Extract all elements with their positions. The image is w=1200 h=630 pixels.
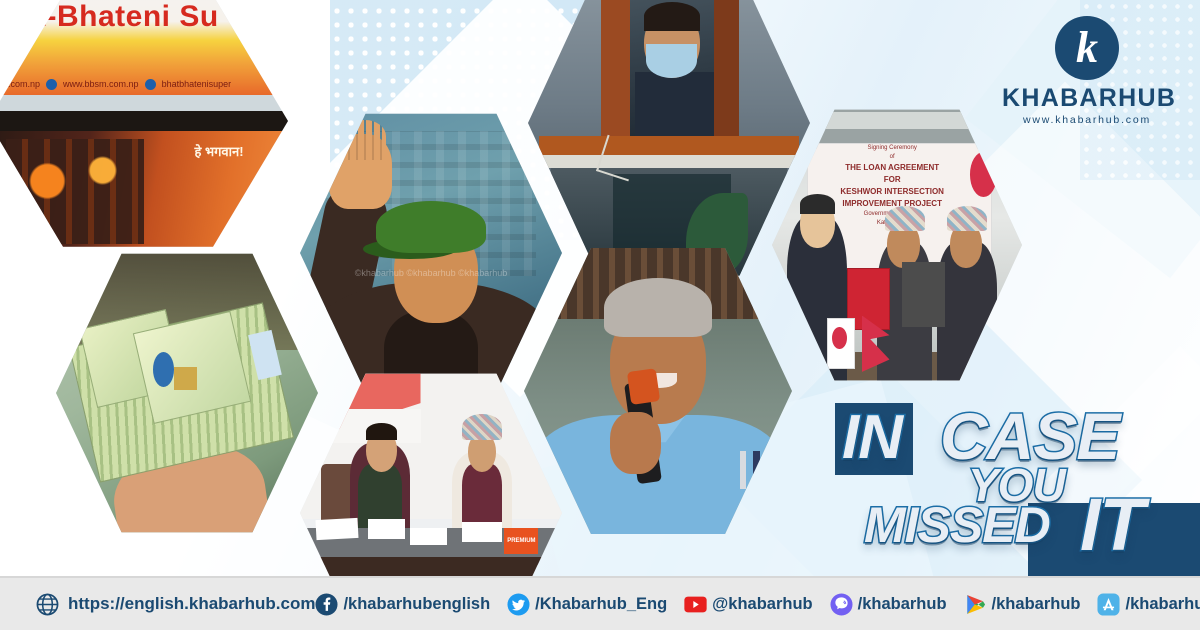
footer-socials: /khabarhubenglish /Khabarhub_Eng @khabar… <box>315 593 1200 616</box>
khabarhub-logo[interactable]: k KHABARHUB www.khabarhub.com <box>1002 16 1172 126</box>
facebook-icon <box>315 593 338 616</box>
globe-icon <box>46 79 57 90</box>
icymi-headline-block: IN CASE YOU MISSED IT <box>818 396 1200 578</box>
khabarhub-icymi-banner: hat-Bhateni Su bsm.com.np www.bbsm.com.n… <box>0 0 1200 630</box>
youtube-icon <box>684 593 707 616</box>
footer-social-label: /khabarhub <box>992 595 1081 614</box>
footer-social-label: /khabarhubenglish <box>343 595 490 614</box>
footer-social-twitter[interactable]: /Khabarhub_Eng <box>507 593 667 616</box>
footer-social-label: /khabarhub <box>1125 595 1200 614</box>
footer-website-label: https://english.khabarhub.com <box>68 594 315 614</box>
brand-name: KHABARHUB <box>1002 86 1172 111</box>
footer-social-playstore[interactable]: /khabarhub <box>964 593 1081 616</box>
k-monogram-icon: k <box>1055 16 1119 80</box>
hex-sign-web-mid: www.bbsm.com.np <box>63 79 139 89</box>
hex-watermark: ©khabarhub ©khabarhub ©khabarhub <box>300 268 562 278</box>
brand-url: www.khabarhub.com <box>1002 114 1172 126</box>
footer-social-label: /Khabarhub_Eng <box>535 595 667 614</box>
footer-social-appstore[interactable]: /khabarhub <box>1097 593 1200 616</box>
headline-word-missed: MISSED <box>864 496 1050 554</box>
hex-sign-social: bhatbhatenisuper <box>162 79 232 89</box>
facebook-icon <box>145 79 156 90</box>
footer-social-label: @khabarhub <box>712 595 812 614</box>
playstore-icon <box>964 593 987 616</box>
globe-icon <box>36 593 59 616</box>
footer-website[interactable]: https://english.khabarhub.com <box>0 593 315 616</box>
footer-bar: https://english.khabarhub.com /khabarhub… <box>0 578 1200 630</box>
viber-icon <box>830 593 853 616</box>
footer-social-label: /khabarhub <box>858 595 947 614</box>
headline-word-it: IT <box>1080 482 1144 567</box>
hex-desk-card: PREMIUM <box>504 528 538 554</box>
headline-word-in: IN <box>842 402 902 473</box>
footer-social-facebook[interactable]: /khabarhubenglish <box>315 593 490 616</box>
footer-social-viber[interactable]: /khabarhub <box>830 593 947 616</box>
twitter-icon <box>507 593 530 616</box>
appstore-icon <box>1097 593 1120 616</box>
footer-social-youtube[interactable]: @khabarhub <box>684 593 812 616</box>
headline-text: IN CASE YOU MISSED IT <box>818 396 1200 578</box>
